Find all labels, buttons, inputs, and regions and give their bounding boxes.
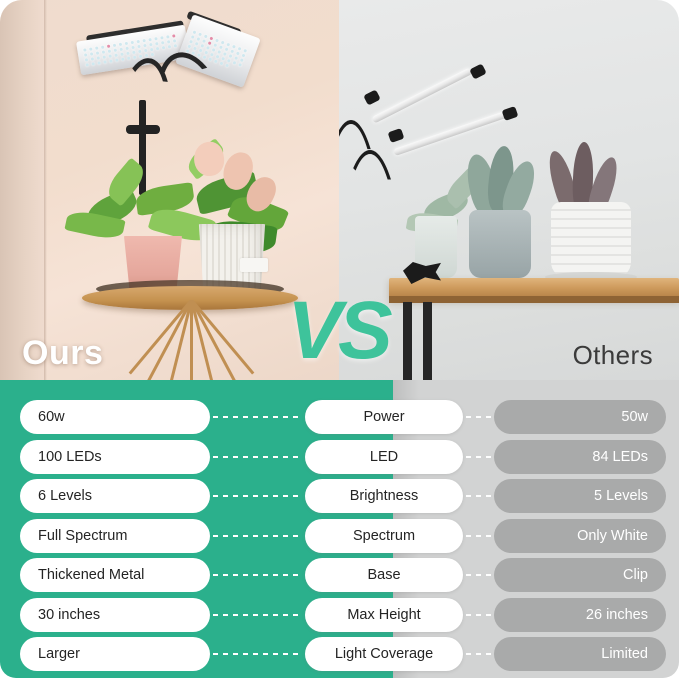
connector-dash-right — [466, 614, 492, 616]
connector-dash-left — [213, 416, 303, 418]
ours-value-pill: 6 Levels — [20, 479, 210, 513]
others-value-pill: 84 LEDs — [494, 440, 666, 474]
tube-base-1 — [363, 89, 380, 105]
ours-value-pill: Full Spectrum — [20, 519, 210, 553]
ours-value-pill: Thickened Metal — [20, 558, 210, 592]
comparison-table: 60wPower50w100 LEDsLED84 LEDs6 LevelsBri… — [0, 380, 679, 684]
feature-label-pill: Brightness — [305, 479, 463, 513]
ours-value-pill: Larger — [20, 637, 210, 671]
others-value-pill: Only White — [494, 519, 666, 553]
table-row: Thickened MetalBaseClip — [0, 558, 679, 592]
desk-edge — [389, 296, 679, 303]
tube-base-2 — [388, 128, 405, 143]
pot-label-tag — [240, 258, 268, 272]
connector-dash-right — [466, 416, 492, 418]
table-row: Full SpectrumSpectrumOnly White — [0, 519, 679, 553]
pole-clamp — [126, 125, 160, 134]
connector-dash-left — [213, 653, 303, 655]
tube-cap-1 — [469, 63, 486, 79]
ours-value-pill: 30 inches — [20, 598, 210, 632]
ours-value-pill: 60w — [20, 400, 210, 434]
vs-badge: VS — [287, 290, 388, 372]
table-row: 6 LevelsBrightness5 Levels — [0, 479, 679, 513]
desk-leg-1 — [403, 302, 412, 388]
table-row: 100 LEDsLED84 LEDs — [0, 440, 679, 474]
feature-label-pill: Power — [305, 400, 463, 434]
connector-dash-right — [466, 535, 492, 537]
others-value-pill: Limited — [494, 637, 666, 671]
feature-label-pill: Light Coverage — [305, 637, 463, 671]
ours-value-pill: 100 LEDs — [20, 440, 210, 474]
others-value-pill: 5 Levels — [494, 479, 666, 513]
feature-label-pill: LED — [305, 440, 463, 474]
table-row: 30 inchesMax Height26 inches — [0, 598, 679, 632]
others-value-pill: 50w — [494, 400, 666, 434]
connector-dash-right — [466, 653, 492, 655]
tube-cap-2 — [502, 106, 519, 121]
feature-label-pill: Spectrum — [305, 519, 463, 553]
connector-dash-right — [466, 456, 492, 458]
wall-edge — [44, 0, 47, 388]
wavy-white-pot — [551, 202, 631, 278]
side-table-base — [120, 300, 260, 386]
comparison-rows: 60wPower50w100 LEDsLED84 LEDs6 LevelsBri… — [0, 380, 679, 678]
connector-dash-right — [466, 574, 492, 576]
others-value-pill: Clip — [494, 558, 666, 592]
led-tube-2 — [393, 111, 507, 156]
others-label: Others — [573, 340, 653, 371]
connector-dash-left — [213, 456, 303, 458]
concrete-pot — [469, 210, 531, 278]
photo-section: Ours — [0, 0, 679, 388]
table-row: LargerLight CoverageLimited — [0, 637, 679, 671]
feature-label-pill: Max Height — [305, 598, 463, 632]
others-value-pill: 26 inches — [494, 598, 666, 632]
feature-label-pill: Base — [305, 558, 463, 592]
others-product-photo: Others — [339, 0, 679, 388]
connector-dash-right — [466, 495, 492, 497]
comparison-infographic: Ours — [0, 0, 679, 684]
desk-leg-2 — [423, 302, 432, 388]
led-tube-1 — [371, 67, 472, 123]
connector-dash-left — [213, 614, 303, 616]
connector-dash-left — [213, 574, 303, 576]
connector-dash-left — [213, 495, 303, 497]
connector-dash-left — [213, 535, 303, 537]
wall-shadow — [0, 0, 46, 388]
ours-label: Ours — [22, 334, 103, 373]
table-row: 60wPower50w — [0, 400, 679, 434]
